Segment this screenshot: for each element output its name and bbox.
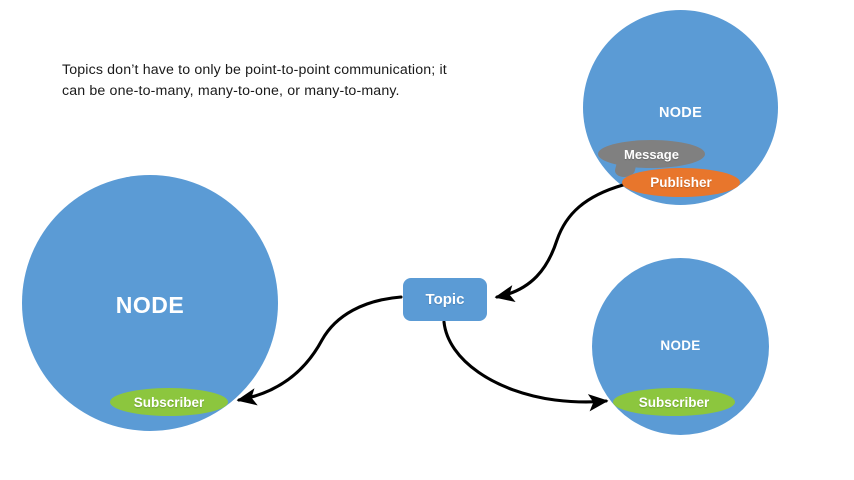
diagram-canvas: Topics don’t have to only be point-to-po… xyxy=(0,0,854,480)
subscriber-pill-left[interactable]: Subscriber xyxy=(110,388,228,416)
publisher-pill[interactable]: Publisher xyxy=(622,168,740,197)
node-label-left: NODE xyxy=(22,292,278,319)
caption-text: Topics don’t have to only be point-to-po… xyxy=(62,60,482,102)
topic-box[interactable]: Topic xyxy=(403,278,487,321)
subscriber-pill-right[interactable]: Subscriber xyxy=(613,388,735,416)
arrow-publisher-to-topic xyxy=(497,185,623,297)
message-bubble[interactable]: Message xyxy=(598,140,705,168)
arrow-topic-to-subscriber-right xyxy=(444,322,606,402)
node-label-bottom-right: NODE xyxy=(592,338,769,353)
node-label-top-right: NODE xyxy=(583,105,778,121)
